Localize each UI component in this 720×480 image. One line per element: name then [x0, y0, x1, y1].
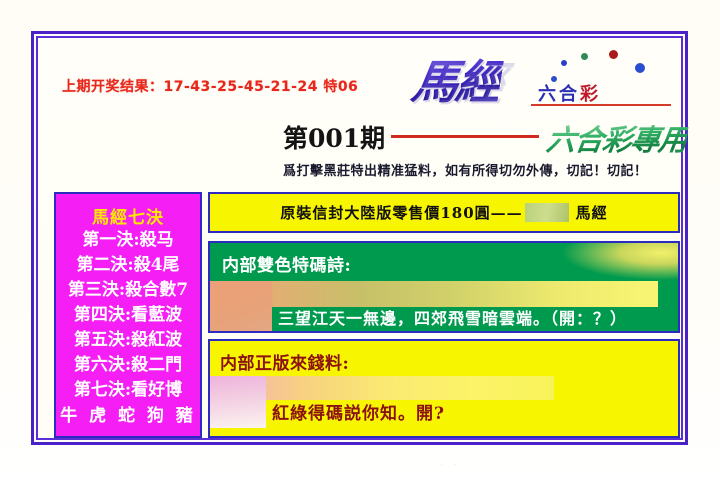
dual-color-poem-text: 三望江天一無邊，四郊飛雪暗雲端。（開：？） — [278, 305, 627, 329]
decor-dot-red-icon — [609, 50, 618, 59]
panel-glow-decor — [558, 243, 678, 281]
seven-tips-item: 第四決:看藍波 — [56, 303, 200, 328]
logo-sub-a: 六合 — [538, 84, 580, 105]
disclaimer-tagline: 爲打擊黑莊特出精准猛料，如有所得切勿外傳，切記！切記！ — [283, 160, 648, 179]
logo-sub-text: 六合彩 — [538, 80, 601, 106]
logo-sub-accent: 彩 — [580, 84, 601, 105]
seven-tips-item: 第五決:殺紅波 — [56, 328, 200, 353]
issue-number: 第001期 — [283, 119, 385, 155]
issue-row: 第001期 六合彩專用 — [283, 119, 683, 153]
seven-tips-item: 第七決:看好博 — [56, 378, 200, 403]
redacted-green-block — [525, 203, 569, 222]
decor-dot-blue-large-icon — [635, 63, 645, 73]
money-tip-text: 紅綠得碼説你知。開? — [272, 399, 445, 424]
price-banner-text-after: 馬經 — [576, 202, 608, 223]
price-banner-text: 原裝信封大陸版零售價180圓—— 馬經 — [280, 202, 607, 223]
money-tip-gradient-block — [210, 376, 266, 428]
footer-faint-mark: . . — [440, 458, 464, 464]
seven-tips-item: 第二決:殺4尾 — [56, 253, 200, 278]
dual-color-poem-panel: 内部雙色特碼詩: 三望江天一無邊，四郊飛雪暗雲端。（開：？） — [208, 241, 680, 333]
money-tip-panel: 内部正版來錢料: 紅綠得碼説你知。開? — [208, 339, 680, 438]
price-banner-text-before: 原裝信封大陸版零售價180圓—— — [280, 202, 522, 223]
seven-tips-panel: 馬經七決 第一決:殺马 第二決:殺4尾 第三決:殺合數7 第四決:看藍波 第五決… — [54, 192, 202, 438]
price-banner: 原裝信封大陸版零售價180圓—— 馬經 — [208, 192, 680, 233]
seven-tips-item: 第一決:殺马 — [56, 228, 200, 253]
last-draw-result-text: 上期开奖结果：17-43-25-45-21-24 特06 — [62, 76, 358, 96]
money-tip-label: 内部正版來錢料: — [220, 349, 349, 374]
logo-underline — [531, 104, 671, 106]
seven-tips-title: 馬經七決 — [56, 203, 200, 228]
dual-color-poem-label: 内部雙色特碼詩: — [222, 251, 351, 276]
issue-divider-rule — [391, 135, 539, 138]
seven-tips-item: 第三決:殺合數7 — [56, 278, 200, 303]
decor-dot-blue-tiny-icon — [551, 76, 557, 82]
issue-tagline-graphic: 六合彩專用 — [544, 117, 690, 159]
right-content-stack: 原裝信封大陸版零售價180圓—— 馬經 内部雙色特碼詩: 三望江天一無邊，四郊飛… — [208, 192, 680, 438]
zodiac-animals-row: 牛 虎 蛇 狗 豬 — [56, 403, 200, 429]
seven-tips-item: 第六決:殺二門 — [56, 353, 200, 378]
decor-dot-blue-small-icon — [561, 60, 567, 66]
poem-gradient-bar — [210, 281, 658, 307]
decor-dot-green-icon — [581, 53, 588, 60]
site-logo: 馬經 六合彩 — [413, 46, 678, 108]
page-root: 上期开奖结果：17-43-25-45-21-24 特06 馬經 六合彩 第001… — [0, 0, 720, 480]
logo-main-text: 馬經 — [408, 46, 506, 112]
poem-gradient-block — [210, 281, 272, 333]
